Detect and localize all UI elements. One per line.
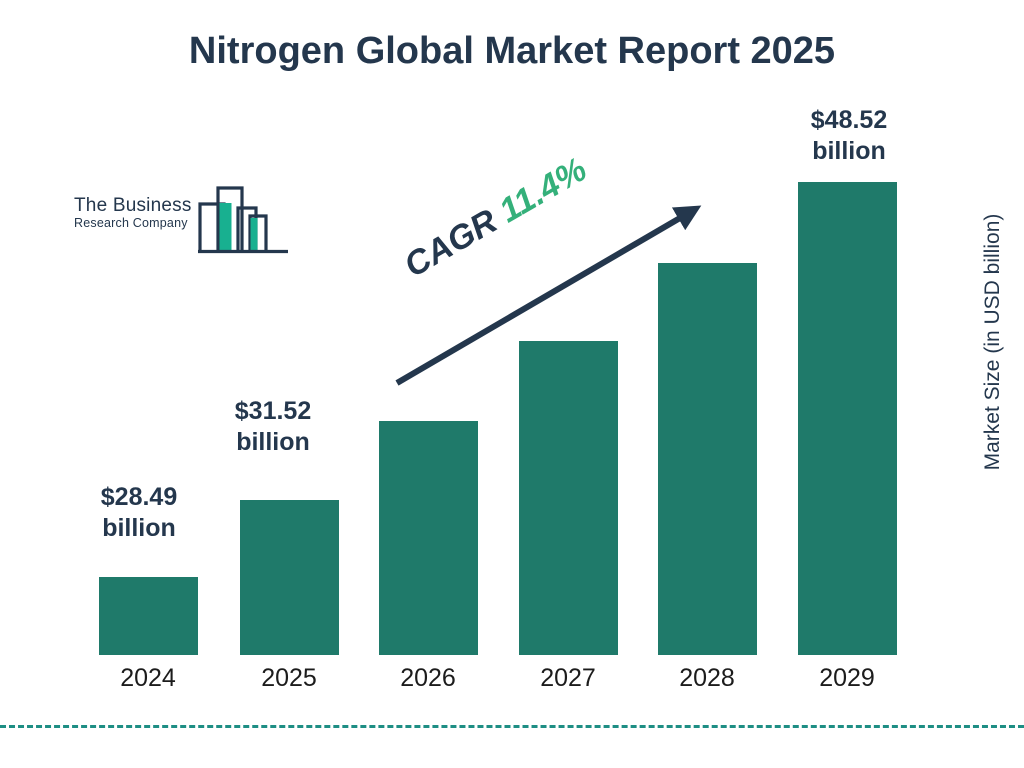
cagr-growth-arrow-icon	[0, 0, 1024, 768]
plot-area: $28.49 billion $31.52 billion $48.52 bil…	[0, 0, 1024, 768]
y-axis-title: Market Size (in USD billion)	[981, 202, 1005, 482]
footer-divider	[0, 725, 1024, 728]
chart-canvas: Nitrogen Global Market Report 2025 The B…	[0, 0, 1024, 768]
